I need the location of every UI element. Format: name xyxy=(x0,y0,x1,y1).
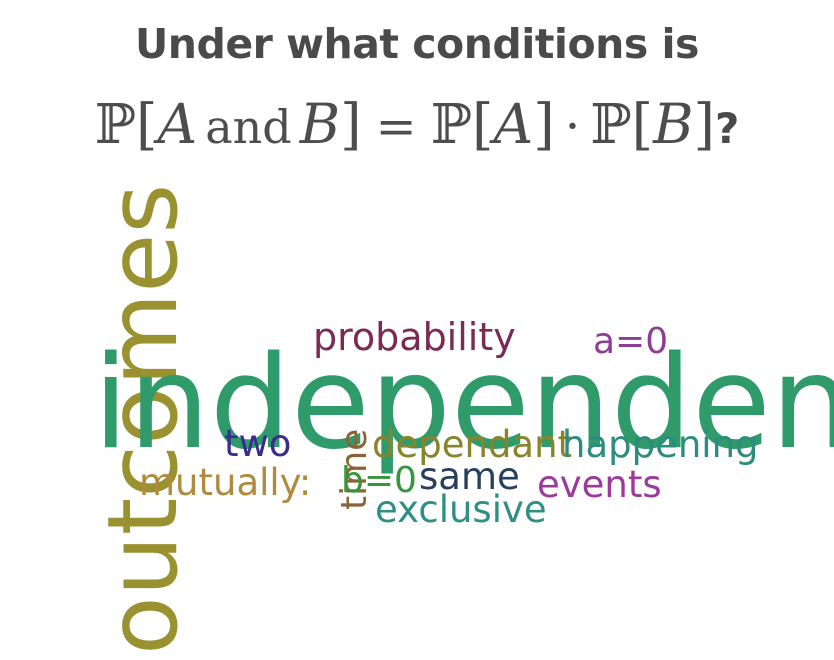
formula-bracket-open-1: [ xyxy=(136,92,157,156)
cloud-word-exclusive: exclusive xyxy=(375,491,547,528)
formula-event-a-1: A xyxy=(157,92,197,156)
formula-bracket-close-1: ] xyxy=(340,92,361,156)
word-cloud: outcomesindependentprobabilitya=0twotime… xyxy=(0,200,834,660)
cloud-word-events: events xyxy=(537,466,662,503)
cloud-word-happening: happening xyxy=(562,426,759,463)
formula-bracket-open-2: [ xyxy=(472,92,493,156)
formula-multiply-dot: · xyxy=(555,98,591,155)
formula-event-a-2: A xyxy=(493,92,533,156)
page-title: Under what conditions is xyxy=(0,20,834,68)
formula-p-symbol-2: ℙ xyxy=(431,92,472,156)
formula-p-symbol-1: ℙ xyxy=(95,92,136,156)
formula-event-b-3: B xyxy=(653,92,693,156)
formula-and-keyword: and xyxy=(197,100,300,154)
probability-formula: ℙ[AandB]=ℙ[A]·ℙ[B]? xyxy=(0,92,834,156)
formula-bracket-open-3: [ xyxy=(632,92,653,156)
slide-header: Under what conditions is ℙ[AandB]=ℙ[A]·ℙ… xyxy=(0,0,834,200)
cloud-word-mutually-: mutually: xyxy=(139,464,311,501)
cloud-word-a-0: a=0 xyxy=(593,324,668,360)
cloud-word-probability: probability xyxy=(313,318,516,356)
formula-p-symbol-3: ℙ xyxy=(590,92,631,156)
formula-bracket-close-3: ] xyxy=(694,92,715,156)
formula-event-b-1: B xyxy=(300,92,340,156)
cloud-word-two: two xyxy=(224,425,291,462)
formula-question-mark: ? xyxy=(715,104,739,153)
formula-bracket-close-2: ] xyxy=(533,92,554,156)
formula-equals-sign: = xyxy=(362,98,431,155)
